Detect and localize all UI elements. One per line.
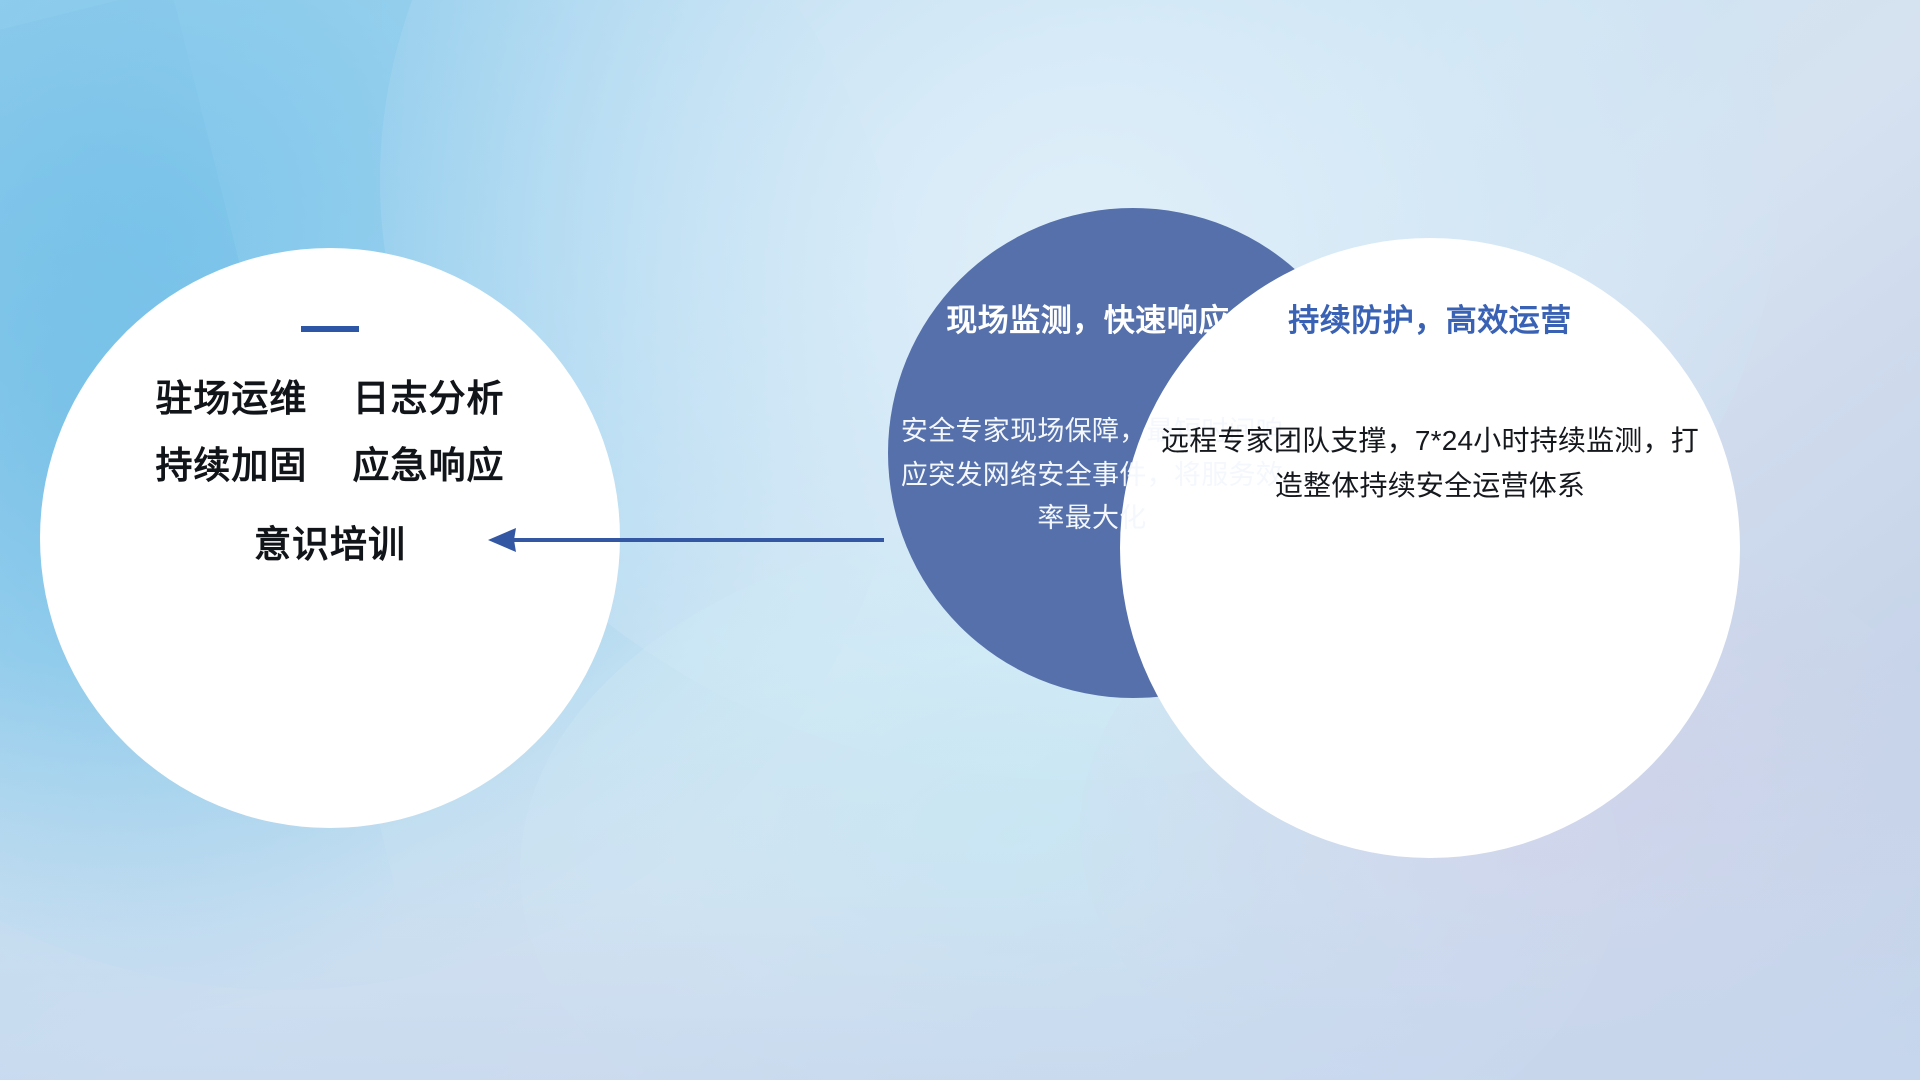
arrow-left-svg — [484, 520, 884, 560]
slide-canvas: 驻场运维 日志分析 持续加固 应急响应 意识培训 现场监测，快速响应 安全专家现… — [0, 0, 1920, 1080]
arrow-left-icon — [484, 520, 884, 560]
right-circle-shape — [1120, 238, 1740, 858]
